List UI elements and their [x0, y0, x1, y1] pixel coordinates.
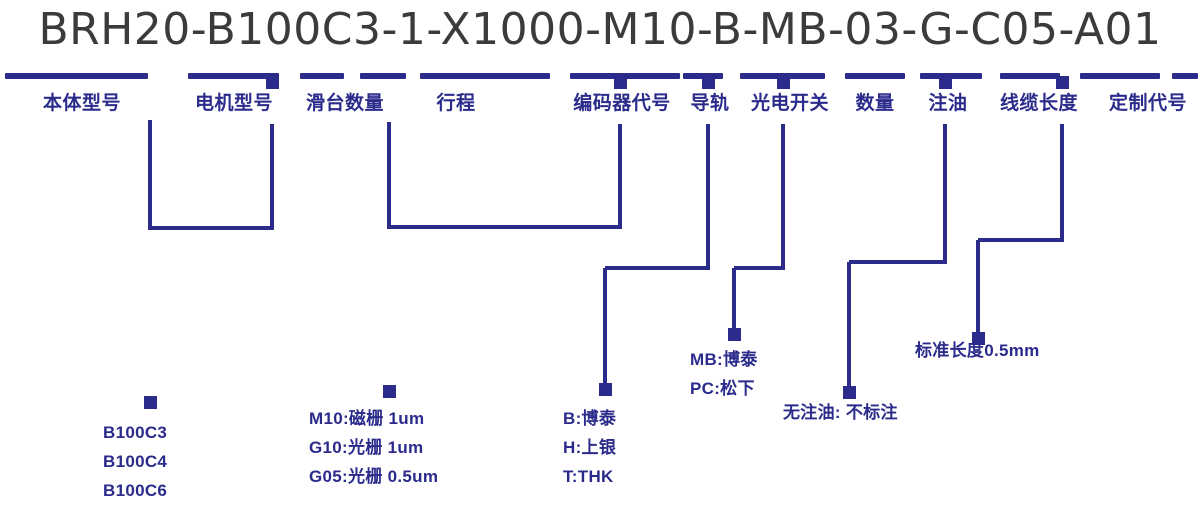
segment-underline-cable-length — [1000, 73, 1060, 79]
segment-label-body-model: 本体型号 — [32, 88, 132, 115]
segment-label-quantity: 数量 — [845, 88, 905, 115]
segment-underline-quantity — [845, 73, 905, 79]
option-item: PC:松下 — [690, 374, 758, 403]
leader-line-photo-switch — [734, 124, 783, 330]
option-item: B100C6 — [103, 476, 167, 505]
segment-label-lubrication: 注油 — [918, 88, 978, 115]
leader-marker-end-photo-switch — [728, 328, 741, 341]
option-item: M10:磁栅 1um — [309, 404, 438, 433]
segment-underline-body-model — [5, 73, 148, 79]
segment-underline-encoder-code — [570, 73, 680, 79]
segment-label-photo-switch: 光电开关 — [740, 88, 840, 115]
option-list-guide-rail: B:博泰 H:上银 T:THK — [563, 404, 616, 491]
segment-underline-stroke — [420, 73, 550, 79]
model-code-breakdown-diagram: BRH20-B100C3-1-X1000-M10-B-MB-03-G-C05-A… — [0, 0, 1200, 507]
option-item: B100C4 — [103, 447, 167, 476]
option-item: 无注油: 不标注 — [783, 398, 898, 427]
leader-line-encoder-code — [389, 122, 620, 227]
segment-underline-custom-code — [1080, 73, 1160, 79]
segment-underline-photo-switch — [740, 73, 825, 79]
leader-line-cable-length — [978, 124, 1062, 334]
option-item: G05:光栅 0.5um — [309, 462, 438, 491]
segment-label-cable-length: 线缆长度 — [986, 88, 1092, 115]
segment-label-guide-rail: 导轨 — [683, 88, 737, 115]
segment-underline-slider-count-a — [300, 73, 344, 79]
segment-underline-guide-rail — [683, 73, 723, 79]
option-item: MB:博泰 — [690, 345, 758, 374]
leader-marker-end-body-model — [144, 396, 157, 409]
segment-underline-slider-count — [360, 73, 406, 79]
segment-label-encoder-code: 编码器代号 — [560, 88, 684, 115]
option-list-body-model: B100C3 B100C4 B100C6 — [103, 418, 167, 505]
segment-label-motor-model: 电机型号 — [184, 88, 284, 115]
leader-line-body-model — [150, 120, 272, 228]
option-list-cable-length: 标准长度0.5mm — [915, 336, 1040, 365]
option-item: 标准长度0.5mm — [915, 336, 1040, 365]
option-item: B100C3 — [103, 418, 167, 447]
option-list-encoder-code: M10:磁栅 1um G10:光栅 1um G05:光栅 0.5um — [309, 404, 438, 491]
segment-underline-motor-model — [188, 73, 279, 79]
option-list-photo-switch: MB:博泰 PC:松下 — [690, 345, 758, 403]
option-list-lubrication: 无注油: 不标注 — [783, 398, 898, 427]
option-item: H:上银 — [563, 433, 616, 462]
option-item: G10:光栅 1um — [309, 433, 438, 462]
segment-underline-tail — [1172, 73, 1198, 79]
segment-label-slider-count: 滑台数量 — [295, 88, 395, 115]
option-item: B:博泰 — [563, 404, 616, 433]
segment-label-stroke: 行程 — [426, 88, 486, 115]
segment-underline-lubrication — [920, 73, 982, 79]
leader-marker-end-guide-rail — [599, 383, 612, 396]
page-title: BRH20-B100C3-1-X1000-M10-B-MB-03-G-C05-A… — [0, 4, 1200, 55]
segment-label-custom-code: 定制代号 — [1098, 88, 1198, 115]
leader-marker-end-encoder-code — [383, 385, 396, 398]
option-item: T:THK — [563, 462, 616, 491]
